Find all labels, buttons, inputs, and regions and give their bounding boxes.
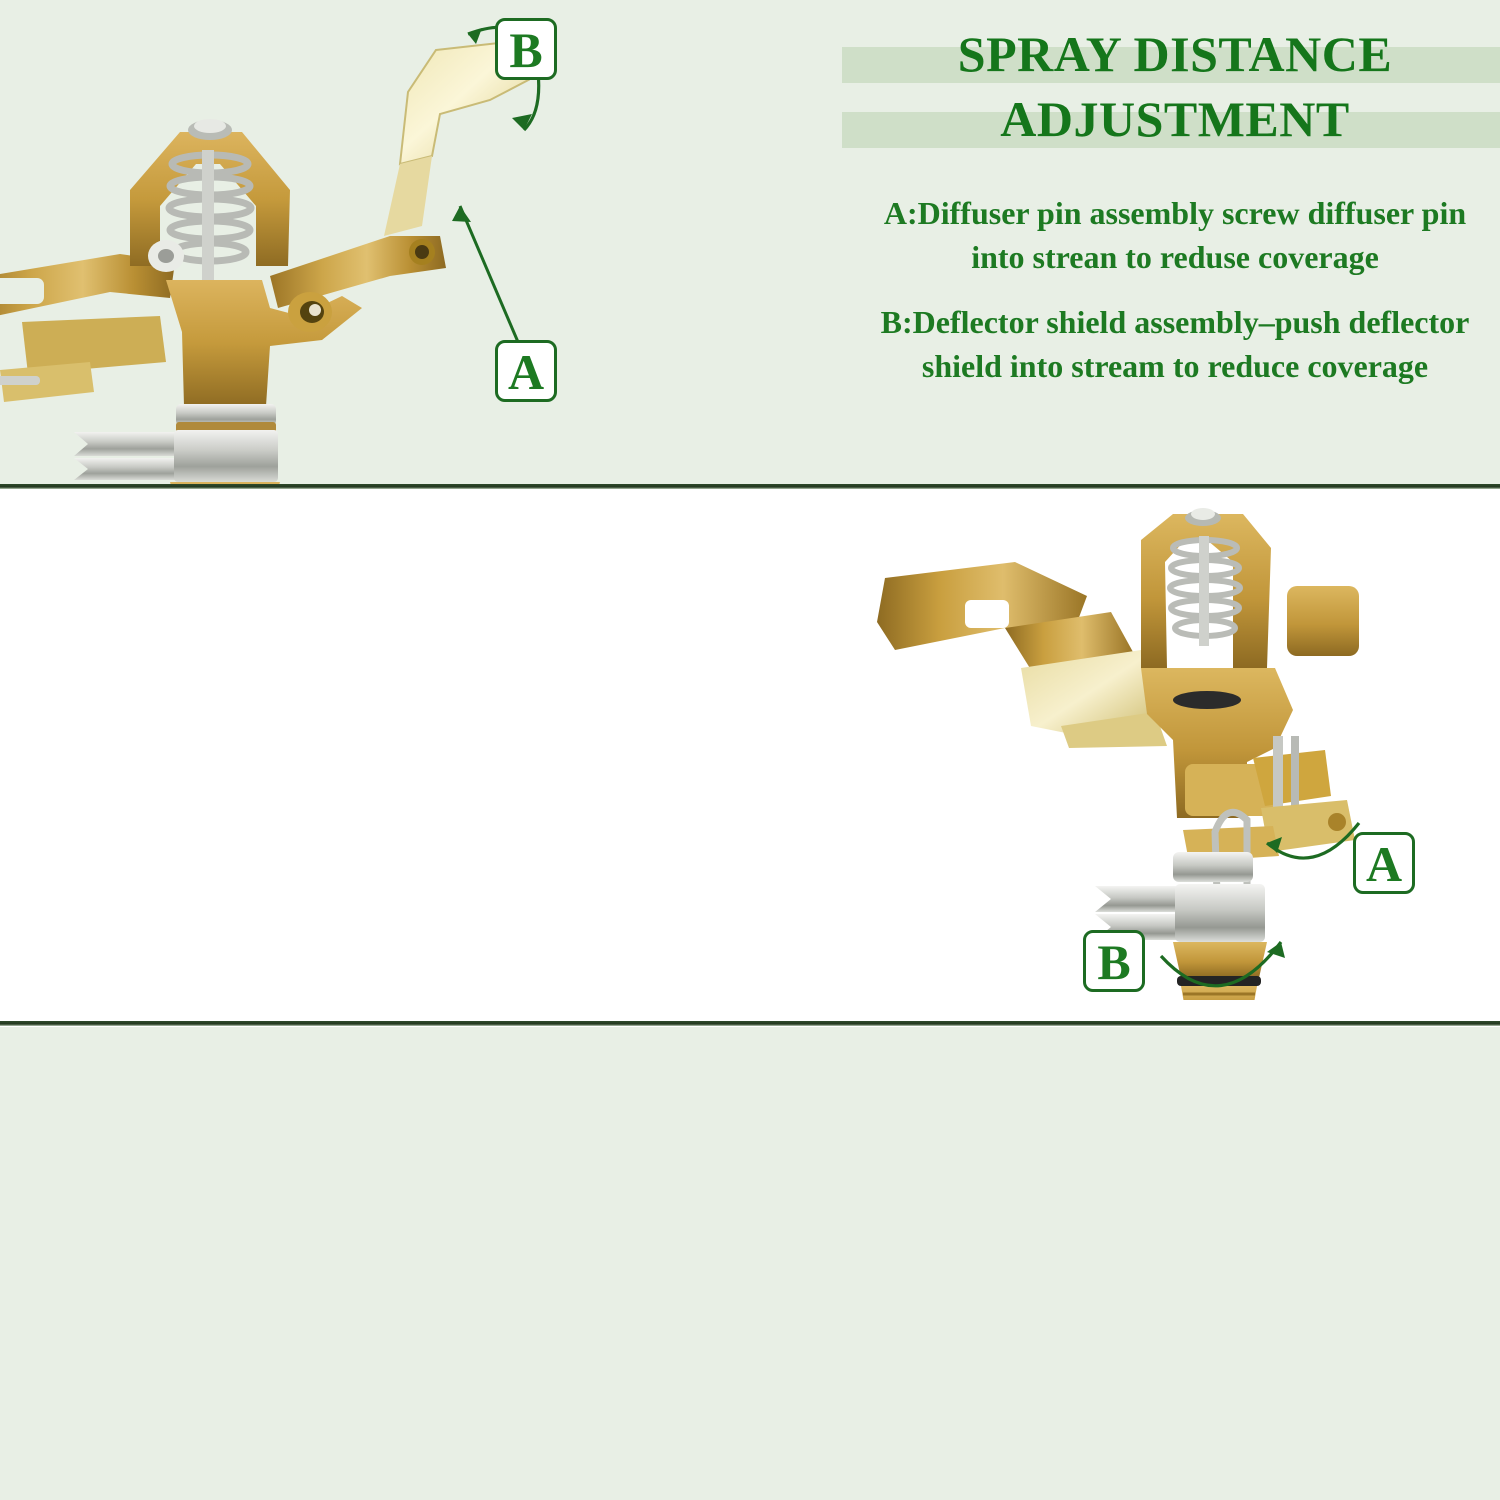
panel-spray-title: SPRAY DISTANCE ADJUSTMENT	[860, 22, 1490, 152]
collar-sleeve	[174, 430, 278, 482]
spring-shaft	[202, 150, 214, 280]
friction-collar-upper	[1173, 852, 1253, 882]
section-divider	[0, 484, 1500, 489]
instruction-b: B:Deflector shield assembly–push deflect…	[865, 301, 1485, 388]
o-ring	[1173, 691, 1241, 709]
collar-sleeve	[1175, 884, 1265, 942]
title-line: SPRAY DISTANCE	[958, 26, 1392, 82]
callout-label-a: A	[1353, 832, 1415, 894]
side-paddle	[1287, 586, 1359, 656]
callout-label-a: A	[495, 340, 557, 402]
friction-collar-lower	[74, 458, 176, 480]
rocker-arm-slot	[0, 278, 44, 304]
trip-pin-wire	[0, 376, 40, 385]
instruction-a: A:Diffuser pin assembly screw diffuser p…	[865, 192, 1485, 279]
friction-collar-left-upper	[1095, 886, 1185, 912]
section-divider	[0, 1021, 1500, 1026]
callout-label-b: B	[1083, 930, 1145, 992]
infographic-sheet: B A SPRAY DISTANCE ADJUSTMENT A:Diffuser…	[0, 0, 1500, 1500]
hex-nut	[1173, 942, 1267, 978]
callout-label-b: B	[495, 18, 557, 80]
o-ring-lower	[1177, 976, 1261, 986]
panel-spray-distance: B A SPRAY DISTANCE ADJUSTMENT A:Diffuser…	[0, 0, 1500, 487]
deflector-shield-stem	[384, 156, 432, 236]
panel-spray-body: A:Diffuser pin assembly screw diffuser p…	[865, 192, 1485, 410]
impact-sprinkler-head-image	[0, 40, 530, 487]
rocker-arm-window	[965, 600, 1009, 628]
friction-collar-upper	[74, 432, 176, 456]
sprinkler-body	[166, 280, 362, 406]
panel-full-circle: A FULL CIRCLE COVERAGE A:Push the trip p…	[0, 1027, 1500, 1500]
title-line: ADJUSTMENT	[1000, 91, 1349, 147]
impact-sprinkler-full-image	[855, 500, 1455, 1000]
friction-collar-block	[22, 316, 166, 374]
